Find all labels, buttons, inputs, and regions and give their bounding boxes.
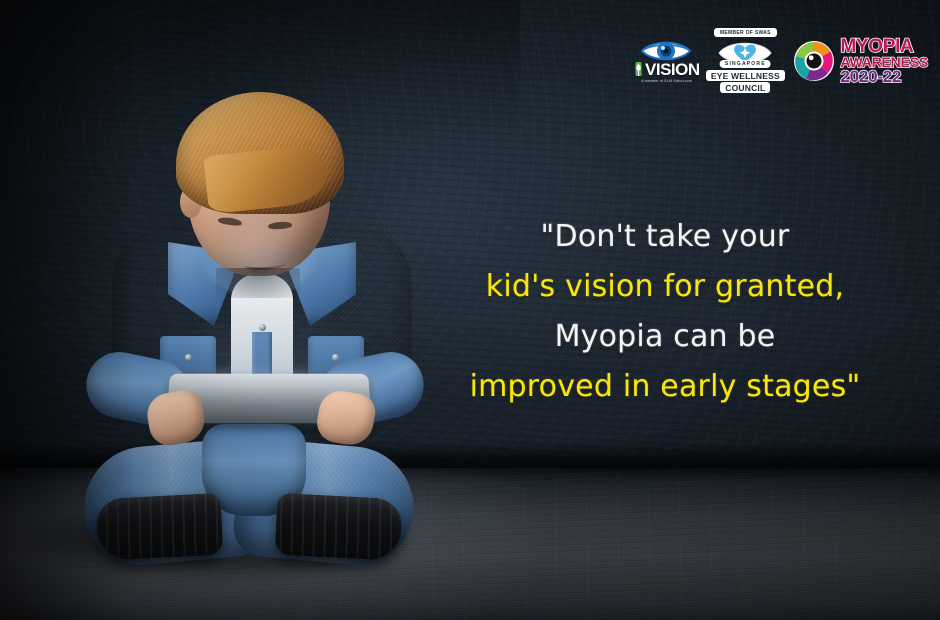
quote-line-2: kid's vision for granted, bbox=[455, 262, 875, 312]
myopia-line1: MYOPIA bbox=[840, 37, 928, 56]
swas-badge: SINGAPORE bbox=[717, 35, 773, 69]
myopia-line3: 2020-22 bbox=[840, 68, 928, 85]
myopia-awareness-poster: VISION A member of SLM Vision.com MEMBER… bbox=[0, 0, 940, 620]
colorful-eye-ring-icon bbox=[793, 40, 835, 82]
myopia-wordmark: MYOPIA AWARENESS 2020-22 bbox=[840, 37, 928, 85]
quote-line-3: Myopia can be bbox=[455, 312, 875, 362]
ivision-text: VISION bbox=[645, 61, 700, 78]
quote-line-4: improved in early stages" bbox=[455, 362, 875, 412]
logo-bar: VISION A member of SLM Vision.com MEMBER… bbox=[635, 28, 928, 93]
quote-line-1: "Don't take your bbox=[455, 212, 875, 262]
logo-ivision[interactable]: VISION A member of SLM Vision.com bbox=[635, 39, 697, 83]
logo-swas[interactable]: MEMBER OF SWAS SINGAPORE EYE WELLNESS CO… bbox=[707, 28, 783, 93]
logo-myopia-awareness[interactable]: MYOPIA AWARENESS 2020-22 bbox=[793, 37, 928, 85]
swas-line2: COUNCIL bbox=[720, 82, 770, 93]
ivision-wordmark: VISION bbox=[633, 60, 700, 78]
swas-country-label: SINGAPORE bbox=[720, 60, 771, 68]
leaf-icon bbox=[633, 60, 644, 78]
quote-block: "Don't take your kid's vision for grante… bbox=[455, 212, 875, 412]
swas-line1: EYE WELLNESS bbox=[706, 70, 785, 81]
ivision-tagline: A member of SLM Vision.com bbox=[641, 78, 692, 82]
